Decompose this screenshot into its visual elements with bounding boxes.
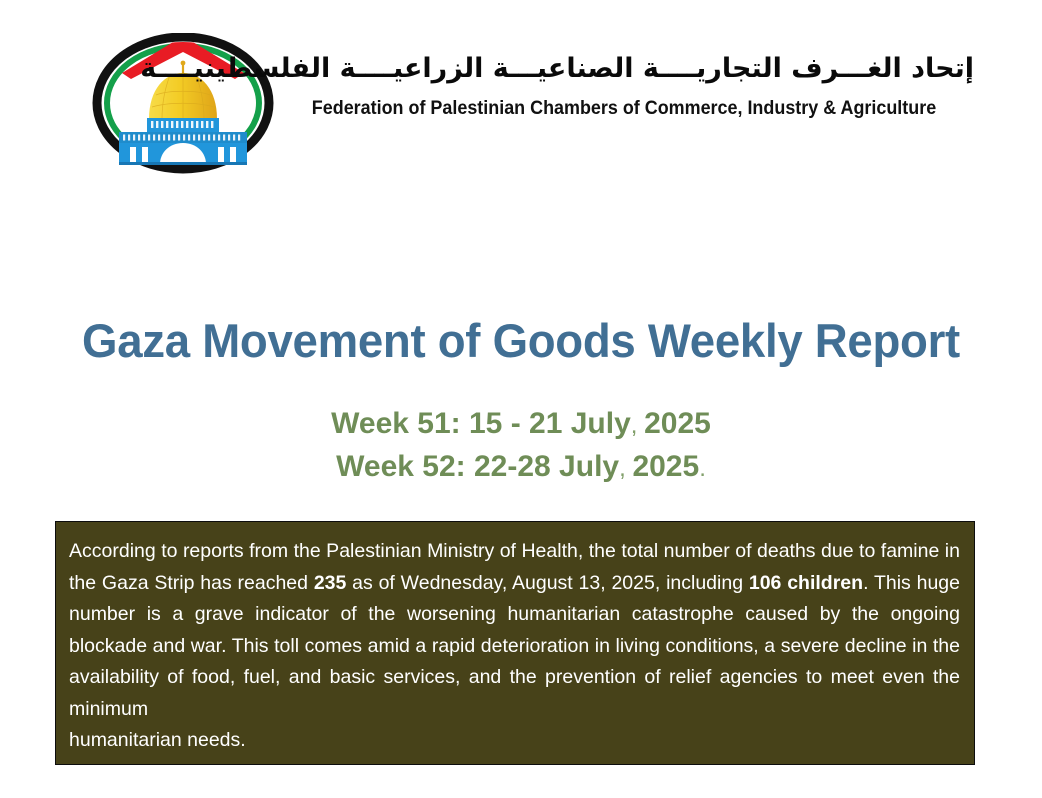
notice-paragraph: According to reports from the Palestinia… bbox=[69, 536, 960, 757]
week-52-label: Week 52: 22-28 July bbox=[336, 450, 619, 483]
letterhead: إتحاد الغـــرف التجاريــــة الصناعيـــة … bbox=[0, 0, 1042, 190]
notice-segment-1: 235 bbox=[314, 572, 347, 594]
notice-segment-3: 106 children bbox=[749, 572, 863, 594]
notice-segment-2: as of Wednesday, August 13, 2025, includ… bbox=[346, 572, 749, 594]
week-52-year: 2025 bbox=[632, 450, 699, 483]
week-51-comma: , bbox=[631, 412, 644, 439]
week-line-52: Week 52: 22-28 July, 2025. bbox=[0, 446, 1042, 489]
week-51-year: 2025 bbox=[644, 407, 711, 440]
week-52-trailing: . bbox=[699, 455, 706, 482]
week-line-51: Week 51: 15 - 21 July, 2025 bbox=[0, 403, 1042, 446]
week-51-label: Week 51: 15 - 21 July bbox=[331, 407, 631, 440]
week-52-comma: , bbox=[619, 455, 632, 482]
org-name-english: Federation of Palestinian Chambers of Co… bbox=[302, 97, 946, 120]
notice-box: According to reports from the Palestinia… bbox=[55, 521, 975, 765]
report-period-lines: Week 51: 15 - 21 July, 2025 Week 52: 22-… bbox=[0, 403, 1042, 488]
org-name-arabic: إتحاد الغـــرف التجاريــــة الصناعيـــة … bbox=[274, 52, 974, 86]
organization-names: إتحاد الغـــرف التجاريــــة الصناعيـــة … bbox=[274, 52, 974, 120]
page-title: Gaza Movement of Goods Weekly Report bbox=[16, 313, 1027, 368]
notice-segment-5: humanitarian needs. bbox=[69, 725, 960, 757]
